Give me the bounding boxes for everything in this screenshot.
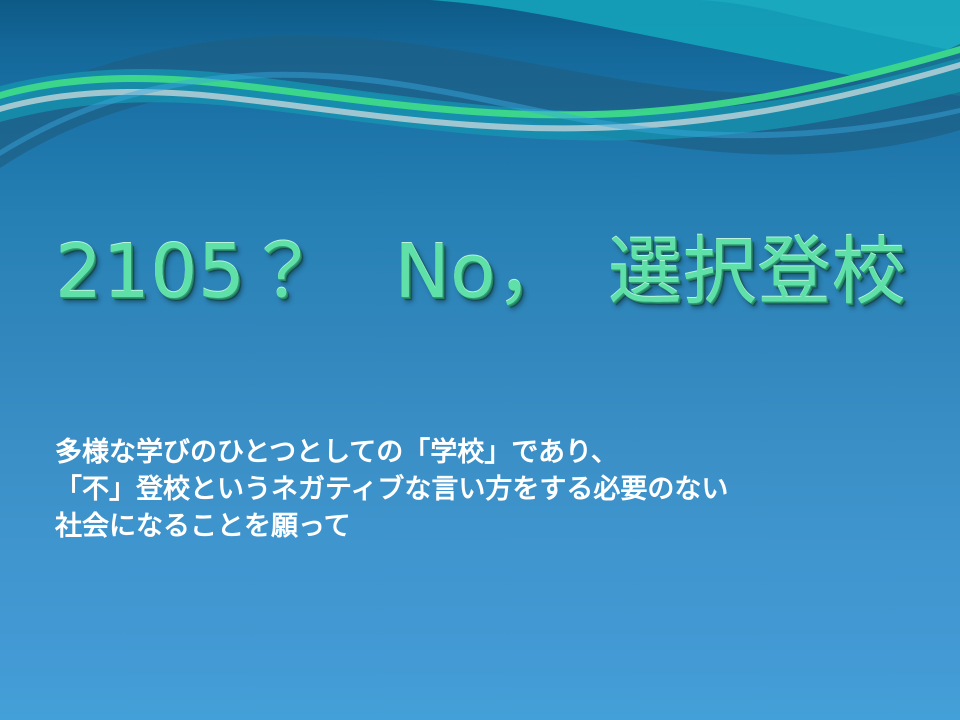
wave-green-accent-line bbox=[0, 46, 960, 118]
body-line-3: 社会になることを願って bbox=[55, 508, 845, 545]
wave-teal-sliver bbox=[700, 0, 960, 52]
slide-title-placeholder[interactable]: 2105？ No， 選択登校 bbox=[55, 218, 905, 328]
wave-white-accent-line bbox=[0, 62, 960, 131]
page-title: 2105？ No， 選択登校 bbox=[55, 234, 906, 312]
wave-mid-teal-ribbon bbox=[0, 58, 960, 140]
body-line-1: 多様な学びのひとつとしての「学校」であり、 bbox=[55, 434, 845, 471]
wave-blue-hairline bbox=[0, 72, 960, 156]
background-wave-decoration bbox=[0, 0, 960, 230]
slide-body-placeholder[interactable]: 多様な学びのひとつとしての「学校」であり、 「不」登校というネガティブな言い方を… bbox=[55, 434, 845, 545]
body-line-2: 「不」登校というネガティブな言い方をする必要のない bbox=[55, 471, 845, 508]
wave-teal-field bbox=[430, 0, 960, 96]
presentation-slide: 2105？ No， 選択登校 多様な学びのひとつとしての「学校」であり、 「不」… bbox=[0, 0, 960, 720]
wave-dark-ribbon bbox=[0, 36, 960, 168]
